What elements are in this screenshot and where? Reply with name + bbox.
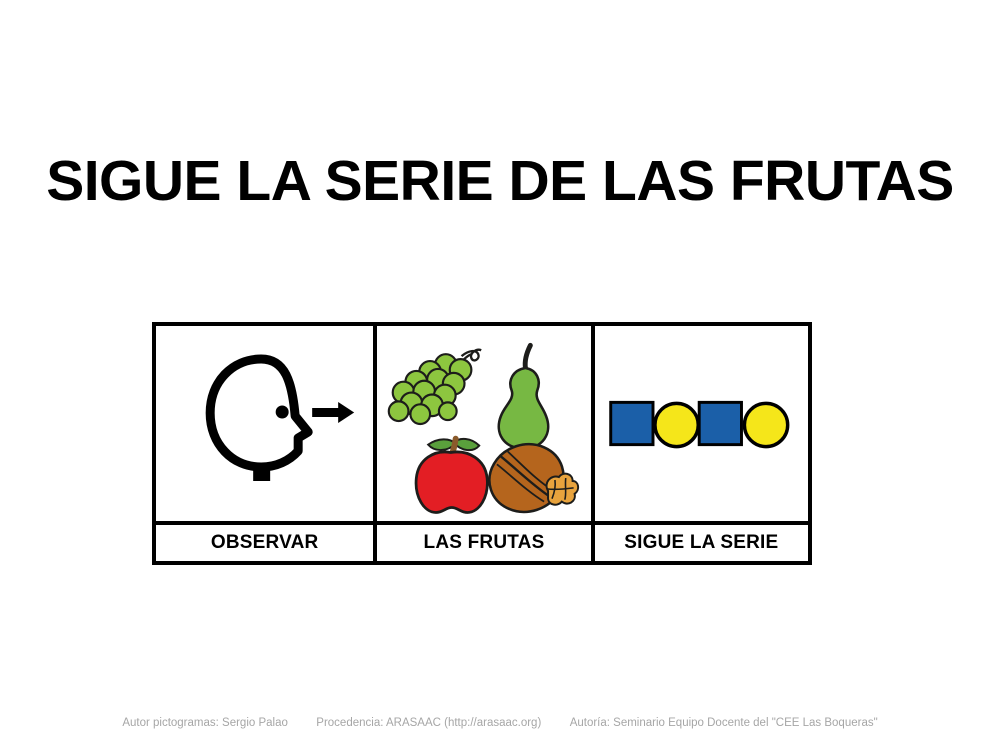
pictogram-label-cell-las-frutas[interactable]: LAS FRUTAS [373, 525, 590, 561]
series-circle-2 [744, 403, 787, 446]
walnut-icon [481, 435, 579, 521]
pictogram-label-observar: OBSERVAR [211, 532, 319, 554]
footer-author-pictograms: Autor pictogramas: Sergio Palao [122, 717, 288, 729]
pictogram-cell-sigue-la-serie[interactable] [591, 326, 808, 521]
pictogram-label-sigue-la-serie: SIGUE LA SERIE [624, 532, 778, 554]
footer-authorship: Autoría: Seminario Equipo Docente del "C… [570, 717, 878, 729]
pictogram-cell-las-frutas[interactable] [373, 326, 590, 521]
head-profile-look-arrow-icon [156, 326, 373, 521]
series-circle-1 [655, 403, 698, 446]
pear-icon [499, 345, 548, 448]
pictogram-cell-observar[interactable] [156, 326, 373, 521]
footer-source: Procedencia: ARASAAC (http://arasaac.org… [316, 717, 541, 729]
pictogram-board: OBSERVAR LAS FRUTAS SIGUE LA SERIE [152, 322, 812, 565]
shape-series-icon [595, 326, 808, 521]
page-title: SIGUE LA SERIE DE LAS FRUTAS [0, 150, 1000, 212]
pictogram-label-row: OBSERVAR LAS FRUTAS SIGUE LA SERIE [156, 521, 808, 561]
pictogram-image-row [156, 326, 808, 521]
fruits-group-icon [377, 326, 590, 521]
pictogram-label-cell-sigue-la-serie[interactable]: SIGUE LA SERIE [591, 525, 808, 561]
series-square-1 [610, 402, 652, 444]
footer-credits: Autor pictogramas: Sergio Palao Proceden… [0, 717, 1000, 729]
grapes-icon [389, 350, 481, 424]
apple-icon [416, 439, 487, 513]
pictogram-label-las-frutas: LAS FRUTAS [424, 532, 545, 554]
series-square-2 [699, 402, 741, 444]
pictogram-label-cell-observar[interactable]: OBSERVAR [156, 525, 373, 561]
